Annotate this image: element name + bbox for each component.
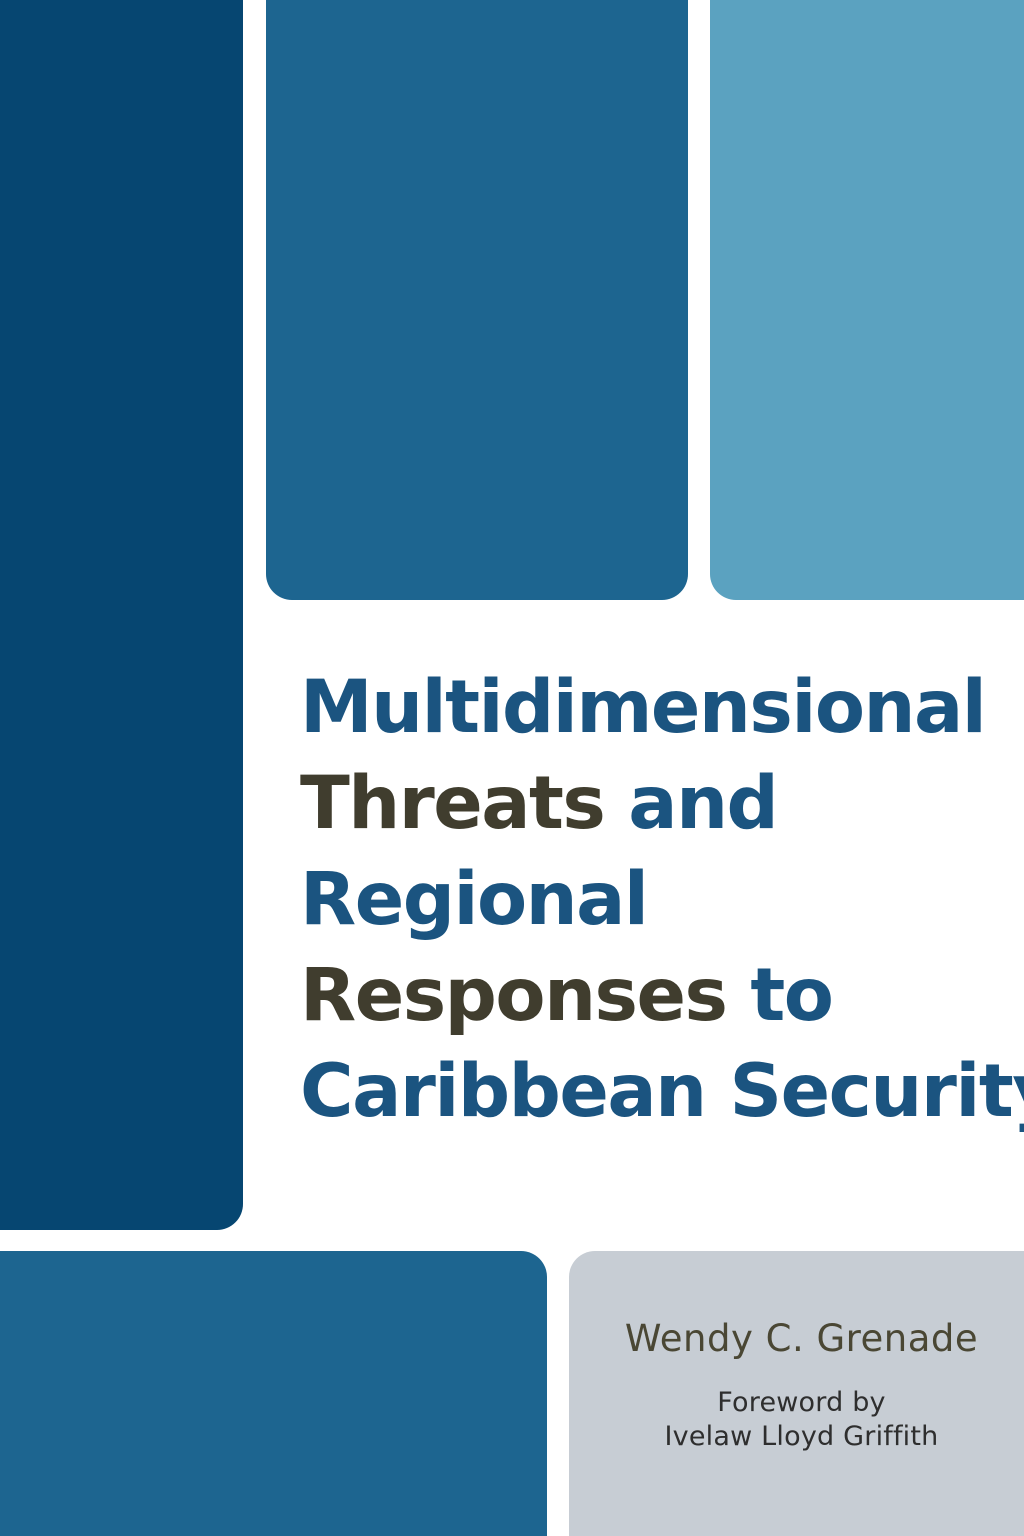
title-word-to: to [726,953,832,1038]
title-line-4: Responses to [300,948,990,1044]
foreword-label: Foreword by [569,1386,1024,1420]
title-word-regional: Regional [300,857,647,942]
title-words-caribbean-security: Caribbean Security [300,1049,1024,1134]
title-word-multidimensional: Multidimensional [300,665,985,750]
blue-top-mid-block-shape [266,0,688,600]
title-word-responses: Responses [300,953,726,1038]
lightblue-top-right-block-shape [710,0,1024,600]
title-line-5: Caribbean Security [300,1044,990,1140]
book-title: Multidimensional Threats and Regional Re… [300,660,990,1140]
author-name: Wendy C. Grenade [569,1316,1024,1362]
foreword-author-name: Ivelaw Lloyd Griffith [569,1420,1024,1454]
blue-bottom-left-block-shape [0,1251,547,1536]
title-line-3: Regional [300,852,990,948]
book-cover: Multidimensional Threats and Regional Re… [0,0,1024,1536]
title-word-and: and [604,761,777,846]
author-credits: Wendy C. Grenade Foreword by Ivelaw Lloy… [569,1316,1024,1454]
navy-left-bar-shape [0,0,243,1230]
foreword-credit: Foreword by Ivelaw Lloyd Griffith [569,1386,1024,1454]
title-line-2: Threats and [300,756,990,852]
title-line-1: Multidimensional [300,660,990,756]
title-word-threats: Threats [300,761,604,846]
